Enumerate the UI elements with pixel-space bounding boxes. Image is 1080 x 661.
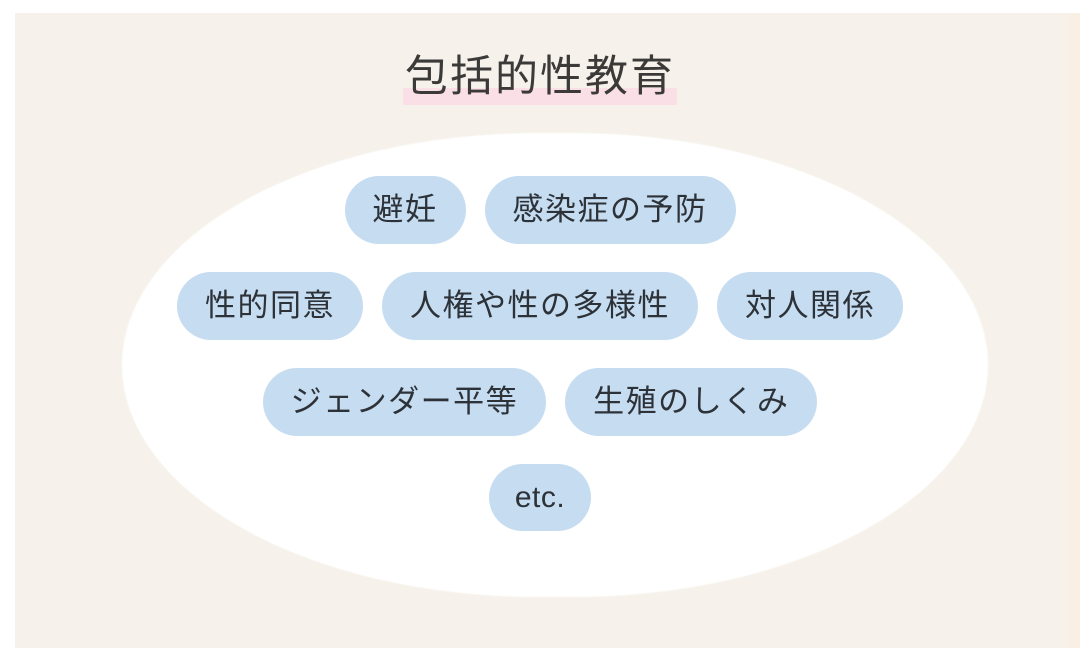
- topic-pill-row: etc.: [0, 464, 1080, 531]
- topic-pill[interactable]: ジェンダー平等: [263, 368, 547, 436]
- topic-pill[interactable]: 感染症の予防: [485, 176, 736, 244]
- topic-pill[interactable]: 対人関係: [717, 272, 903, 340]
- topic-pill[interactable]: 人権や性の多様性: [382, 272, 698, 340]
- infographic-canvas: 包括的性教育 避妊感染症の予防性的同意人権や性の多様性対人関係ジェンダー平等生殖…: [0, 0, 1080, 661]
- topic-pill-groups: 避妊感染症の予防性的同意人権や性の多様性対人関係ジェンダー平等生殖のしくみetc…: [0, 176, 1080, 559]
- topic-pill[interactable]: 性的同意: [177, 272, 363, 340]
- topic-pill[interactable]: etc.: [489, 464, 591, 531]
- title-text: 包括的性教育: [405, 54, 675, 101]
- page-title: 包括的性教育: [0, 56, 1080, 105]
- topic-pill-row: 避妊感染症の予防: [0, 176, 1080, 244]
- topic-pill[interactable]: 避妊: [345, 176, 466, 244]
- topic-pill-row: ジェンダー平等生殖のしくみ: [0, 368, 1080, 436]
- topic-pill[interactable]: 生殖のしくみ: [565, 368, 817, 436]
- topic-pill-row: 性的同意人権や性の多様性対人関係: [0, 272, 1080, 340]
- title-container: 包括的性教育: [401, 56, 679, 105]
